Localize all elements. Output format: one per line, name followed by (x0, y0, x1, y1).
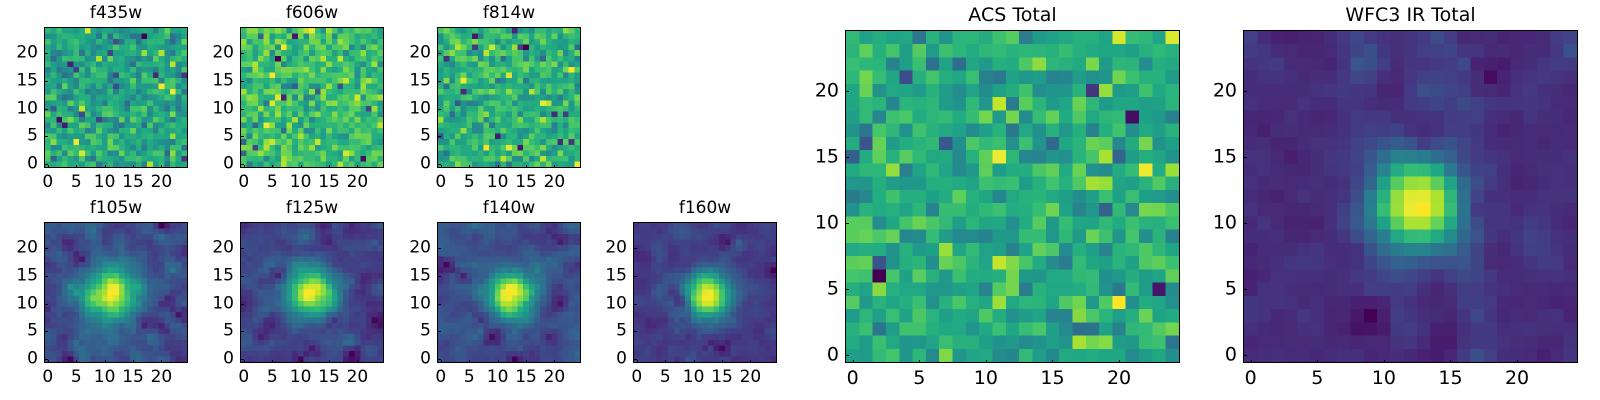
xtick-mark (1052, 360, 1053, 364)
figure-canvas: f435w0510152005101520f606w05101520051015… (0, 0, 1600, 400)
ytick-label: 5 (194, 128, 234, 145)
xtick-label: 15 (122, 174, 144, 191)
xtick-label: 15 (711, 369, 733, 386)
ytick-label: 0 (0, 351, 38, 368)
ytick-label: 15 (799, 147, 839, 166)
xtick-label: 20 (1107, 369, 1131, 388)
ytick-mark (1243, 355, 1247, 356)
ytick-mark (845, 355, 849, 356)
xtick-mark (329, 165, 330, 169)
panel-title-f814w: f814w (437, 5, 581, 22)
ytick-label: 10 (0, 100, 38, 117)
ytick-label: 20 (194, 45, 234, 62)
ytick-mark (845, 223, 849, 224)
xtick-mark (105, 360, 106, 364)
ytick-label: 10 (587, 295, 627, 312)
xtick-label: 10 (1372, 369, 1396, 388)
xtick-label: 5 (660, 369, 671, 386)
heatmap-wfc3-ir-total (1243, 30, 1578, 363)
ytick-label: 10 (194, 100, 234, 117)
xtick-mark (301, 360, 302, 364)
ytick-mark (44, 136, 48, 137)
ytick-label: 15 (194, 267, 234, 284)
xtick-label: 0 (238, 174, 249, 191)
xtick-label: 15 (515, 174, 537, 191)
ytick-label: 0 (0, 156, 38, 173)
xtick-mark (329, 360, 330, 364)
ytick-mark (240, 136, 244, 137)
xtick-label: 20 (151, 369, 173, 386)
xtick-mark (76, 360, 77, 364)
ytick-mark (633, 248, 637, 249)
xtick-mark (1317, 360, 1318, 364)
ytick-label: 15 (391, 267, 431, 284)
xtick-label: 15 (122, 369, 144, 386)
ytick-mark (633, 276, 637, 277)
heatmap-f814w (437, 27, 581, 168)
xtick-label: 10 (487, 174, 509, 191)
ytick-label: 15 (194, 72, 234, 89)
ytick-mark (240, 304, 244, 305)
xtick-mark (637, 360, 638, 364)
heatmap-f606w (240, 27, 384, 168)
panel-title-f160w: f160w (633, 200, 777, 217)
ytick-mark (437, 81, 441, 82)
xtick-label: 15 (318, 369, 340, 386)
xtick-mark (244, 165, 245, 169)
xtick-label: 5 (1311, 369, 1323, 388)
ytick-label: 10 (391, 100, 431, 117)
ytick-mark (240, 109, 244, 110)
ytick-label: 20 (391, 45, 431, 62)
ytick-mark (437, 248, 441, 249)
heatmap-f140w (437, 222, 581, 363)
ytick-mark (437, 276, 441, 277)
xtick-label: 0 (435, 174, 446, 191)
xtick-mark (665, 360, 666, 364)
xtick-mark (1517, 360, 1518, 364)
ytick-mark (1243, 289, 1247, 290)
ytick-label: 10 (1197, 213, 1237, 232)
xtick-label: 0 (631, 369, 642, 386)
ytick-mark (240, 53, 244, 54)
ytick-label: 5 (194, 323, 234, 340)
ytick-label: 20 (391, 240, 431, 257)
xtick-label: 20 (1505, 369, 1529, 388)
ytick-mark (240, 331, 244, 332)
ytick-mark (1243, 157, 1247, 158)
xtick-label: 10 (974, 369, 998, 388)
panel-title-acs-total: ACS Total (845, 6, 1180, 25)
ytick-mark (240, 276, 244, 277)
xtick-mark (272, 165, 273, 169)
ytick-label: 5 (391, 323, 431, 340)
xtick-mark (1450, 360, 1451, 364)
ytick-mark (437, 136, 441, 137)
xtick-label: 10 (94, 369, 116, 386)
xtick-mark (48, 360, 49, 364)
panel-title-f125w: f125w (240, 200, 384, 217)
panel-f814w: f814w0510152005101520 (437, 27, 581, 168)
xtick-label: 5 (913, 369, 925, 388)
ytick-label: 10 (799, 213, 839, 232)
ytick-label: 0 (587, 351, 627, 368)
xtick-mark (161, 165, 162, 169)
xtick-label: 5 (267, 369, 278, 386)
ytick-mark (1243, 91, 1247, 92)
panel-title-f606w: f606w (240, 5, 384, 22)
ytick-mark (845, 157, 849, 158)
ytick-mark (240, 81, 244, 82)
ytick-mark (437, 331, 441, 332)
ytick-label: 15 (587, 267, 627, 284)
ytick-label: 0 (799, 346, 839, 365)
ytick-mark (633, 331, 637, 332)
panel-title-f140w: f140w (437, 200, 581, 217)
xtick-mark (105, 165, 106, 169)
ytick-mark (437, 53, 441, 54)
xtick-label: 5 (464, 369, 475, 386)
xtick-mark (357, 165, 358, 169)
panel-wfc3-ir-total: WFC3 IR Total0510152005101520 (1243, 30, 1578, 363)
xtick-mark (526, 165, 527, 169)
xtick-mark (554, 165, 555, 169)
xtick-label: 0 (1245, 369, 1257, 388)
ytick-label: 5 (799, 280, 839, 299)
xtick-mark (526, 360, 527, 364)
ytick-mark (44, 276, 48, 277)
xtick-label: 10 (683, 369, 705, 386)
ytick-mark (845, 289, 849, 290)
panel-title-f105w: f105w (44, 200, 188, 217)
xtick-mark (244, 360, 245, 364)
xtick-mark (441, 165, 442, 169)
xtick-mark (1384, 360, 1385, 364)
xtick-label: 15 (515, 369, 537, 386)
ytick-label: 5 (0, 128, 38, 145)
ytick-label: 20 (587, 240, 627, 257)
ytick-mark (44, 109, 48, 110)
xtick-label: 20 (544, 369, 566, 386)
xtick-mark (750, 360, 751, 364)
xtick-label: 20 (347, 369, 369, 386)
xtick-label: 20 (347, 174, 369, 191)
xtick-mark (919, 360, 920, 364)
panel-acs-total: ACS Total0510152005101520 (845, 30, 1180, 363)
ytick-label: 10 (391, 295, 431, 312)
xtick-label: 10 (94, 174, 116, 191)
xtick-label: 5 (71, 369, 82, 386)
xtick-label: 10 (487, 369, 509, 386)
heatmap-acs-total (845, 30, 1180, 363)
xtick-label: 20 (544, 174, 566, 191)
ytick-label: 15 (391, 72, 431, 89)
ytick-label: 0 (391, 351, 431, 368)
xtick-mark (161, 360, 162, 364)
xtick-label: 5 (71, 174, 82, 191)
ytick-label: 5 (587, 323, 627, 340)
ytick-mark (240, 248, 244, 249)
panel-f160w: f160w0510152005101520 (633, 222, 777, 363)
xtick-mark (76, 165, 77, 169)
xtick-mark (1119, 360, 1120, 364)
xtick-label: 0 (847, 369, 859, 388)
panel-f606w: f606w0510152005101520 (240, 27, 384, 168)
xtick-mark (469, 360, 470, 364)
panel-f140w: f140w0510152005101520 (437, 222, 581, 363)
panel-f105w: f105w0510152005101520 (44, 222, 188, 363)
heatmap-f435w (44, 27, 188, 168)
ytick-mark (633, 304, 637, 305)
ytick-label: 5 (391, 128, 431, 145)
ytick-label: 15 (1197, 147, 1237, 166)
ytick-mark (44, 81, 48, 82)
xtick-mark (301, 165, 302, 169)
xtick-label: 5 (464, 174, 475, 191)
xtick-label: 20 (740, 369, 762, 386)
panel-f435w: f435w0510152005101520 (44, 27, 188, 168)
heatmap-f160w (633, 222, 777, 363)
ytick-label: 5 (1197, 280, 1237, 299)
xtick-mark (48, 165, 49, 169)
ytick-mark (845, 91, 849, 92)
ytick-label: 15 (0, 267, 38, 284)
ytick-mark (44, 248, 48, 249)
ytick-label: 20 (1197, 81, 1237, 100)
ytick-label: 20 (0, 45, 38, 62)
ytick-label: 5 (0, 323, 38, 340)
xtick-label: 20 (151, 174, 173, 191)
ytick-label: 20 (799, 81, 839, 100)
xtick-mark (498, 360, 499, 364)
xtick-mark (853, 360, 854, 364)
xtick-mark (554, 360, 555, 364)
xtick-label: 0 (42, 369, 53, 386)
xtick-mark (469, 165, 470, 169)
ytick-label: 10 (0, 295, 38, 312)
xtick-label: 0 (238, 369, 249, 386)
ytick-label: 0 (1197, 346, 1237, 365)
panel-title-f435w: f435w (44, 5, 188, 22)
ytick-label: 15 (0, 72, 38, 89)
ytick-mark (44, 53, 48, 54)
xtick-label: 5 (267, 174, 278, 191)
heatmap-f105w (44, 222, 188, 363)
ytick-label: 0 (194, 156, 234, 173)
xtick-label: 0 (42, 174, 53, 191)
ytick-label: 0 (194, 351, 234, 368)
xtick-mark (498, 165, 499, 169)
panel-title-wfc3-ir-total: WFC3 IR Total (1243, 6, 1578, 25)
xtick-mark (133, 360, 134, 364)
ytick-mark (437, 304, 441, 305)
heatmap-f125w (240, 222, 384, 363)
xtick-label: 10 (290, 369, 312, 386)
ytick-label: 10 (194, 295, 234, 312)
ytick-label: 20 (0, 240, 38, 257)
xtick-mark (357, 360, 358, 364)
xtick-label: 15 (1438, 369, 1462, 388)
xtick-mark (1251, 360, 1252, 364)
xtick-mark (133, 165, 134, 169)
xtick-mark (722, 360, 723, 364)
ytick-mark (44, 304, 48, 305)
xtick-label: 15 (318, 174, 340, 191)
xtick-mark (986, 360, 987, 364)
xtick-mark (272, 360, 273, 364)
xtick-label: 10 (290, 174, 312, 191)
xtick-label: 15 (1040, 369, 1064, 388)
ytick-mark (1243, 223, 1247, 224)
ytick-label: 20 (194, 240, 234, 257)
xtick-mark (694, 360, 695, 364)
xtick-label: 0 (435, 369, 446, 386)
ytick-mark (437, 109, 441, 110)
xtick-mark (441, 360, 442, 364)
ytick-label: 0 (391, 156, 431, 173)
panel-f125w: f125w0510152005101520 (240, 222, 384, 363)
ytick-mark (44, 331, 48, 332)
